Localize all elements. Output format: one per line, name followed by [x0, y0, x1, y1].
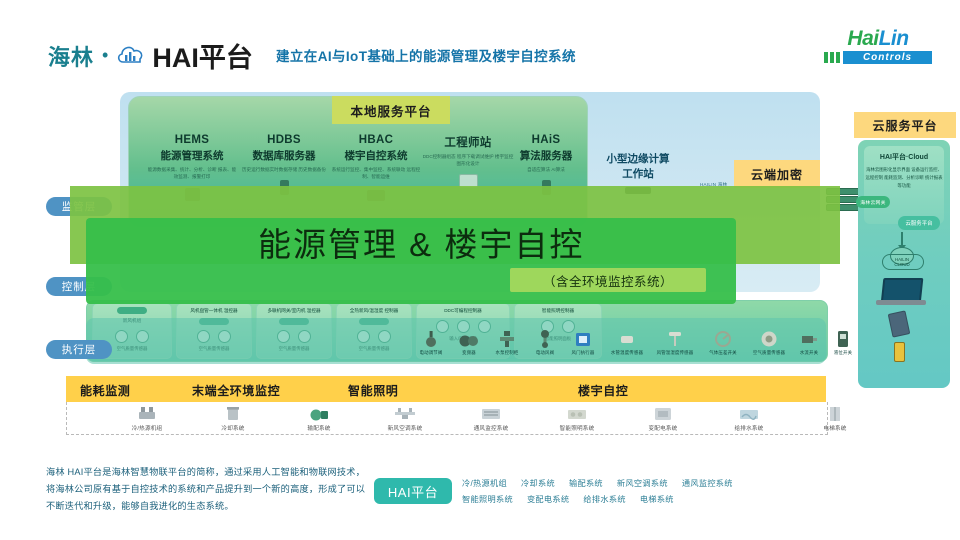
cloud-icon-label: HAILIN CLOUD [889, 257, 915, 267]
device-label: 水管温度传感器 [600, 350, 654, 356]
service-code: HEMS [146, 134, 238, 146]
footer-system-item: 冷却系统 [521, 476, 555, 492]
overlay-title: 能源管理 & 楼宇自控 [258, 218, 584, 266]
service-code: HAiS [500, 134, 592, 146]
execution-device-duct-sensor[interactable]: 风管温湿度传感器 [648, 326, 702, 356]
footer-system-row-2: 智能照明系统 变配电系统 给排水系统 电梯系统 [462, 492, 832, 508]
local-service-platform-tab: 本地服务平台 [332, 96, 450, 124]
footer-system-item: 冷/热源机组 [462, 476, 507, 492]
service-desc: 能源数据采集、统计、分析、诊断 报表、能效监测、报警打印 [146, 167, 238, 180]
footer-system-item: 智能照明系统 [462, 492, 513, 508]
slide-canvas: 海林 • HAI平台 建立在AI与IoT基础上的能源管理及楼宇自控系统 HaiL… [0, 0, 960, 540]
brand-name-cn: 海林 [48, 40, 94, 72]
service-code: HBAC [330, 134, 422, 146]
laptop-icon [876, 278, 926, 308]
function-label-building-automation[interactable]: 楼宇自控 [578, 382, 628, 399]
logo-wordmark: HaiLin [824, 28, 932, 49]
control-card-title: DDC可编程控制器 [417, 304, 509, 315]
system-elevator[interactable]: 电梯系统 [792, 404, 878, 432]
function-label-terminal-env[interactable]: 末端全环境监控 [192, 382, 280, 399]
footer-system-row-1: 冷/热源机组 冷却系统 输配系统 新风空调系统 通风监控系统 [462, 476, 832, 492]
elevator-icon [792, 404, 878, 422]
footer-system-item: 新风空调系统 [617, 476, 668, 492]
logo-controls-label: Controls [843, 51, 932, 64]
cloud-chart-icon [116, 43, 146, 69]
logo-subbar: Controls [824, 51, 932, 64]
footer-system-item: 通风监控系统 [682, 476, 733, 492]
cloud-encryption-tab: 云端加密 [734, 160, 820, 188]
cloud-flow-arrow-icon [901, 232, 903, 246]
system-water[interactable]: 给排水系统 [706, 404, 792, 432]
cloud-card-desc: 海林云图形化显示界面 设备运行监控、远程控制 能耗监测、分析诊断 统计报表等功能 [864, 166, 944, 190]
duct-sensor-icon [648, 326, 702, 348]
brand-separator-dot: • [102, 45, 108, 66]
footer-system-item: 电梯系统 [640, 492, 674, 508]
hailin-controls-logo: HaiLin Controls [824, 28, 932, 64]
control-card-title: 多联机网关/室内机 温控器 [257, 304, 331, 315]
logo-bars-icon [824, 52, 840, 63]
system-chiller[interactable]: 冷/热源机组 [104, 404, 190, 432]
service-name: 算法服务器 [500, 148, 592, 163]
service-desc: 系统运行监控、集中监控、系统联动 远程控制、智能运维 [330, 167, 422, 180]
control-card-title: 全热新风/温湿度 控制器 [337, 304, 411, 315]
service-name: 能源管理系统 [146, 148, 238, 163]
lighting-icon [534, 404, 620, 422]
edge-station-label-line2: 工作站 [590, 167, 686, 182]
brand-platform-label: HAI平台 [152, 36, 253, 75]
cooling-tower-icon [190, 404, 276, 422]
ahu-icon [362, 404, 448, 422]
cloud-card-title: HAI平台·Cloud [864, 152, 944, 162]
system-ahu[interactable]: 新风空调系统 [362, 404, 448, 432]
function-label-smart-lighting[interactable]: 智能照明 [348, 382, 398, 399]
function-label-energy-monitoring[interactable]: 能耗监测 [80, 382, 130, 399]
cloud-platform-card[interactable]: HAI平台·Cloud 海林云图形化显示界面 设备运行监控、远程控制 能耗监测、… [864, 146, 944, 224]
footer-system-item: 输配系统 [569, 476, 603, 492]
function-bar: 能耗监测 末端全环境监控 智能照明 楼宇自控 [66, 376, 826, 402]
edge-station-label-line1: 小型边缘计算 [590, 152, 686, 167]
system-label: 电梯系统 [792, 424, 878, 432]
level-switch-icon [816, 326, 870, 348]
brand-lockup: 海林 • HAI平台 [48, 36, 253, 75]
service-name: 数据库服务器 [238, 148, 330, 163]
execution-device-pipe-sensor[interactable]: 水管温度传感器 [600, 326, 654, 356]
system-lighting[interactable]: 智能照明系统 [534, 404, 620, 432]
layer-pill-execution: 执行层 [46, 340, 112, 359]
chiller-icon [104, 404, 190, 422]
cloud-gateway-badge: 海林云网关 [856, 196, 890, 208]
footer-paragraph: 海林 HAI平台是海林智慧物联平台的简称，通过采用人工智能和物联网技术，将海林公… [46, 464, 366, 515]
device-label: 风管温湿度传感器 [648, 350, 702, 356]
service-desc: 历史运行数据实时数据存储 历史数据备份 [238, 167, 330, 174]
system-cooling[interactable]: 冷却系统 [190, 404, 276, 432]
logo-word-lin: Lin [879, 27, 909, 50]
service-desc: 自适应算法 AI算法 [500, 167, 592, 174]
cloud-encryption-label: 云端加密 [751, 166, 803, 183]
cloud-platform-pill: 云服务平台 [898, 216, 940, 230]
device-label: 液位开关 [816, 350, 870, 356]
system-ventilation[interactable]: 通风监控系统 [448, 404, 534, 432]
system-distribution[interactable]: 输配系统 [276, 404, 362, 432]
control-pill [117, 307, 147, 314]
hai-platform-button[interactable]: HAI平台 [374, 478, 452, 504]
system-label: 冷/热源机组 [104, 424, 190, 432]
overlay-subtitle: （含全环境监控系统） [543, 271, 673, 290]
control-card-title: 风机盘管一体机 温控器 [177, 304, 251, 315]
execution-device-level-switch[interactable]: 液位开关 [816, 326, 870, 356]
system-label: 智能照明系统 [534, 424, 620, 432]
system-label: 输配系统 [276, 424, 362, 432]
overlay-subtitle-chip: （含全环境监控系统） [510, 268, 706, 292]
footer-system-item: 给排水系统 [583, 492, 625, 508]
system-label: 给排水系统 [706, 424, 792, 432]
power-icon [620, 404, 706, 422]
control-card-title: 智能照明控制器 [515, 304, 601, 315]
pump-icon [276, 404, 362, 422]
logo-word-hai: Hai [847, 27, 878, 50]
cloud-service-platform-label: 云服务平台 [872, 117, 937, 134]
system-power[interactable]: 变配电系统 [620, 404, 706, 432]
footer-system-item: 变配电系统 [527, 492, 569, 508]
system-label: 通风监控系统 [448, 424, 534, 432]
system-label: 变配电系统 [620, 424, 706, 432]
water-icon [706, 404, 792, 422]
pipe-sensor-icon [600, 326, 654, 348]
system-label: 新风空调系统 [362, 424, 448, 432]
service-code: HDBS [238, 134, 330, 146]
cloud-icon: HAILIN CLOUD [876, 246, 928, 272]
service-name: 楼宇自控系统 [330, 148, 422, 163]
phone-icon [894, 342, 905, 362]
page-title: 建立在AI与IoT基础上的能源管理及楼宇自控系统 [276, 45, 576, 65]
local-service-platform-label: 本地服务平台 [350, 101, 431, 120]
system-label: 冷却系统 [190, 424, 276, 432]
footer-system-list: 冷/热源机组 冷却系统 输配系统 新风空调系统 通风监控系统 智能照明系统 变配… [462, 476, 832, 509]
cloud-service-platform-tab: 云服务平台 [854, 112, 956, 138]
ventilation-icon [448, 404, 534, 422]
